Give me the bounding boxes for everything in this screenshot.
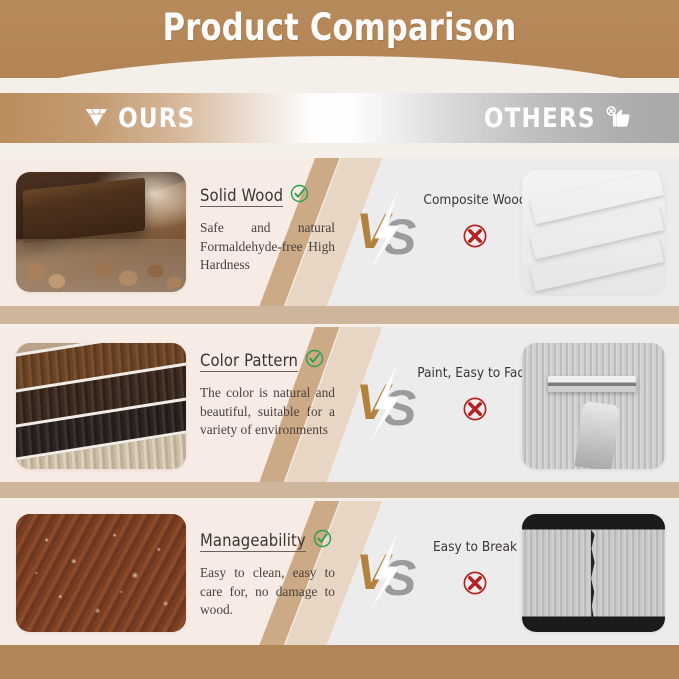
ours-label: OURS: [118, 103, 195, 134]
others-column-header: OTHERS: [484, 93, 633, 143]
check-icon: [290, 184, 309, 208]
cross-icon: [416, 223, 534, 249]
others-title-2: Paint, Easy to Fade: [416, 365, 534, 382]
diamond-icon: [83, 106, 110, 130]
ours-image-3: [16, 514, 186, 632]
ours-text-1: Solid Wood Safe and natural Formaldehyde…: [200, 184, 335, 275]
cross-icon: [416, 396, 534, 422]
ours-image-1: [16, 172, 186, 292]
ours-desc-1: Safe and natural Formaldehyde-free High …: [200, 219, 335, 275]
ours-others-gradient-bar: OURS OTHERS: [0, 93, 679, 143]
ours-image-2: [16, 343, 186, 469]
product-comparison-infographic: Product Comparison OURS OTHERS: [0, 0, 679, 679]
others-title-3: Easy to Break: [416, 539, 534, 556]
title-banner: Product Comparison: [0, 0, 679, 78]
check-icon: [313, 529, 332, 553]
ours-title-2: Color Pattern: [200, 351, 298, 372]
others-image-3: [522, 514, 665, 632]
ours-text-2: Color Pattern The color is natural and b…: [200, 349, 335, 440]
comparison-row-1: Solid Wood Safe and natural Formaldehyde…: [0, 158, 679, 306]
check-icon: [305, 349, 324, 373]
others-text-2: Paint, Easy to Fade: [416, 365, 534, 422]
others-text-3: Easy to Break: [416, 539, 534, 596]
bottom-band: [0, 645, 679, 679]
others-label: OTHERS: [484, 103, 596, 134]
others-image-1: [522, 170, 665, 294]
others-image-2: [522, 343, 665, 469]
others-title-1: Composite Wood: [416, 192, 534, 209]
thumbs-down-icon: [605, 105, 634, 131]
ours-text-3: Manageability Easy to clean, easy to car…: [200, 529, 335, 620]
ours-title-3: Manageability: [200, 531, 306, 552]
row-divider-band-2: [0, 482, 679, 498]
comparison-row-3: Manageability Easy to clean, easy to car…: [0, 501, 679, 645]
comparison-row-2: Color Pattern The color is natural and b…: [0, 327, 679, 482]
ours-column-header: OURS: [83, 93, 195, 143]
cross-icon: [416, 570, 534, 596]
ours-others-header: OURS OTHERS: [0, 78, 679, 156]
page-title: Product Comparison: [27, 6, 652, 49]
ours-title-1: Solid Wood: [200, 186, 283, 207]
ours-desc-3: Easy to clean, easy to care for, no dama…: [200, 564, 335, 620]
others-text-1: Composite Wood: [416, 192, 534, 249]
row-divider-band-1: [0, 306, 679, 324]
ours-desc-2: The color is natural and beautiful, suit…: [200, 384, 335, 440]
